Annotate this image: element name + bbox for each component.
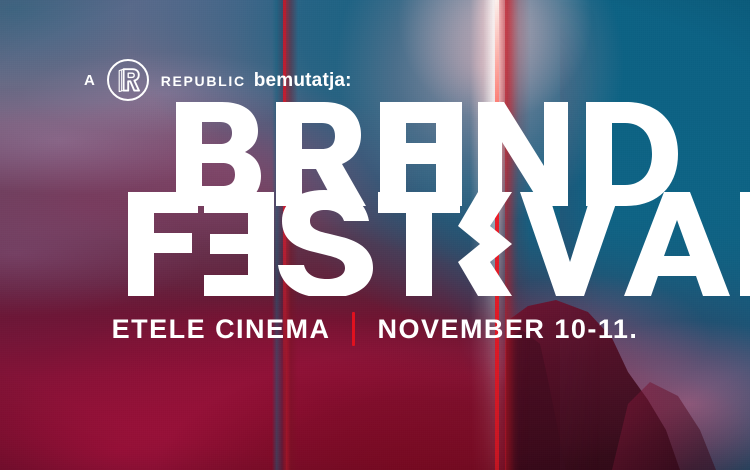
title-line-2 — [128, 190, 750, 296]
footer-info: ETELE CINEMA NOVEMBER 10-11. — [0, 312, 750, 346]
date-label: NOVEMBER 10-11. — [377, 316, 638, 343]
title-block: BRAND FESTIVAL — [0, 96, 750, 296]
presenter-brand: REPUBLIC — [161, 74, 246, 88]
venue-label: ETELE CINEMA — [112, 316, 331, 343]
presenter-text: REPUBLIC bemutatja: — [161, 71, 352, 90]
presenter-article: A — [84, 73, 96, 88]
poster-content: A REPUBLIC bemutatja: BRAND FESTIVAL — [0, 0, 750, 470]
presenter-verb: bemutatja: — [254, 71, 352, 90]
title-line-1 — [176, 102, 678, 206]
title-lettering: BRAND FESTIVAL — [0, 96, 750, 296]
brand-festival-poster: A REPUBLIC bemutatja: BRAND FESTIVAL — [0, 0, 750, 470]
footer-divider — [352, 312, 355, 346]
